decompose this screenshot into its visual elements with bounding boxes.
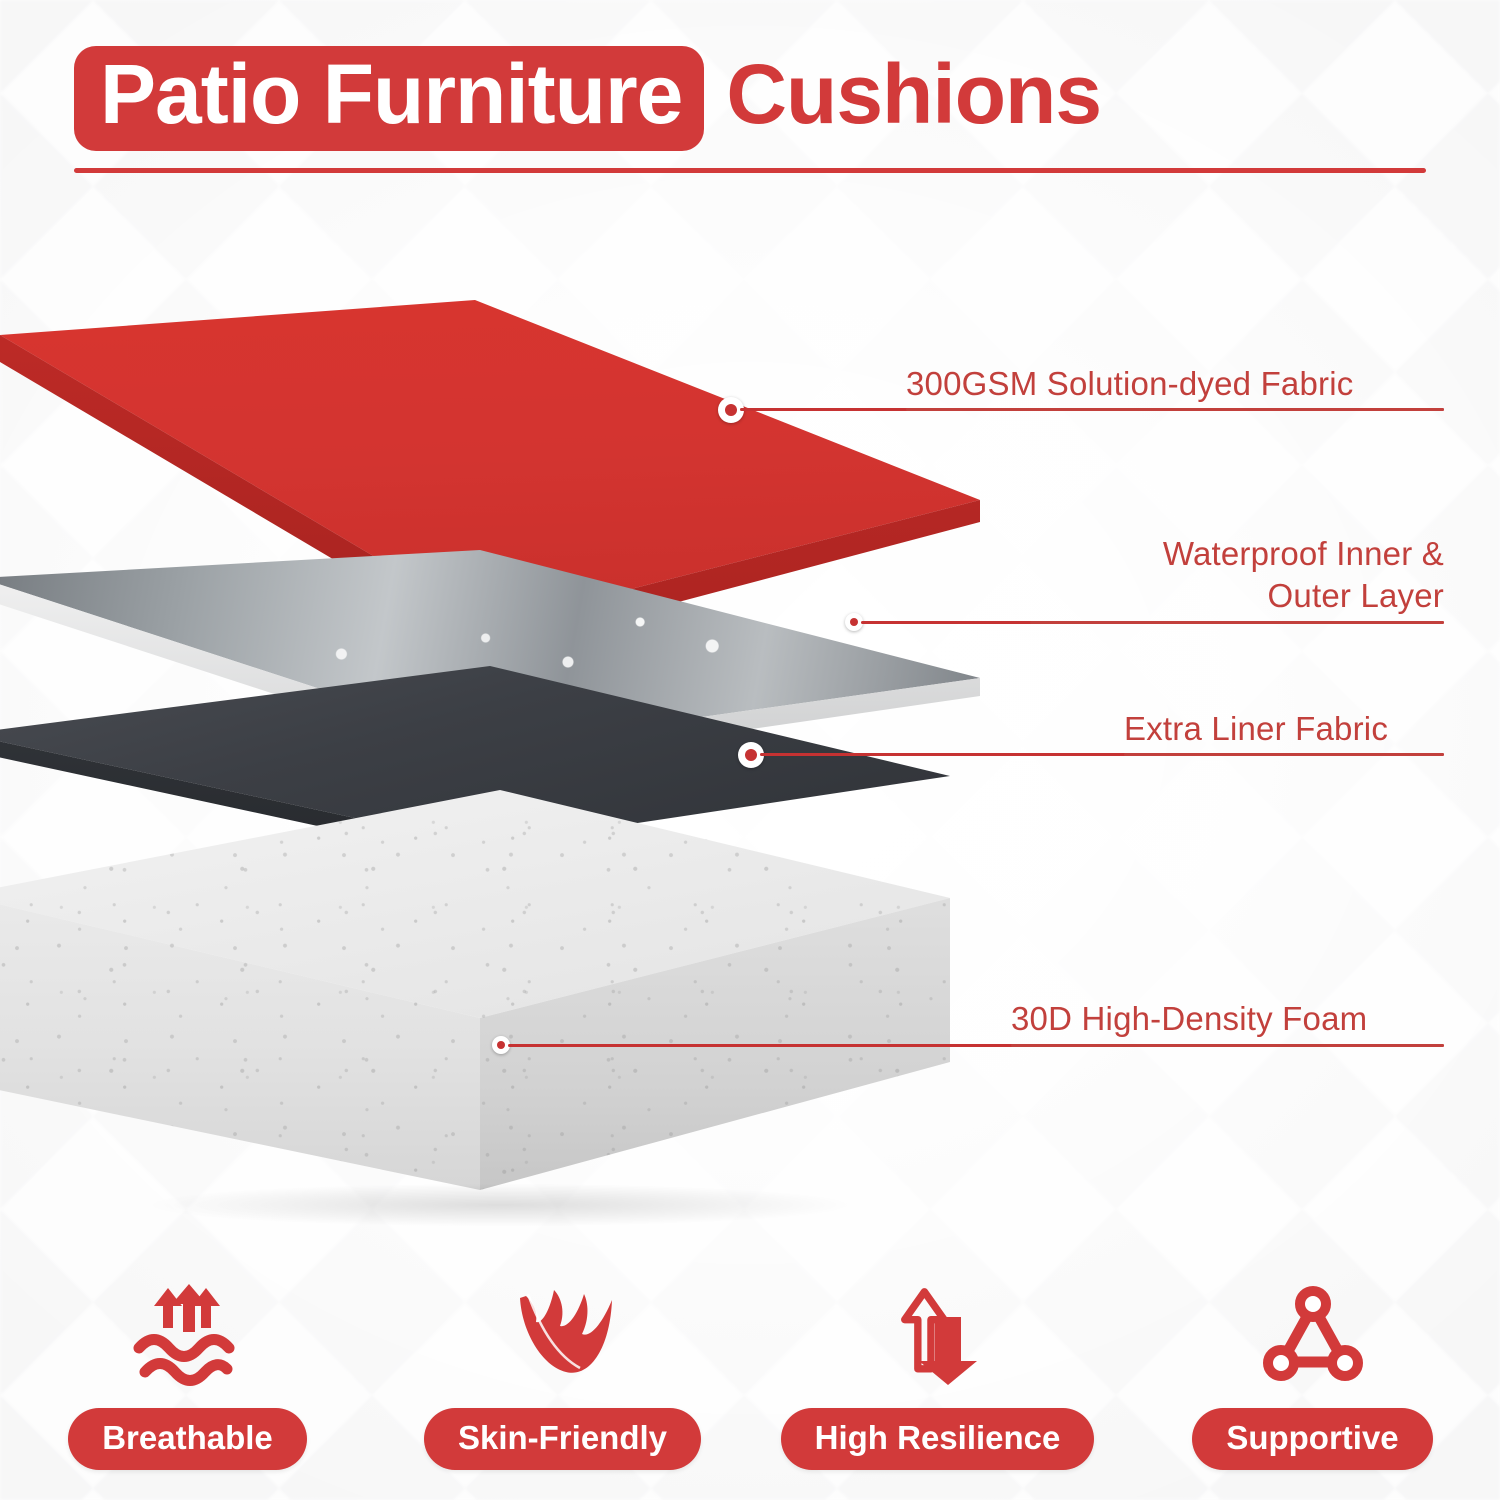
- triangle-nodes-icon: [1248, 1276, 1378, 1394]
- up-down-arrows-icon: [873, 1276, 1003, 1394]
- title-highlight-chip: Patio Furniture: [74, 46, 704, 151]
- header: Patio Furniture Cushions: [0, 46, 1500, 196]
- layer-high-density-foam: [0, 790, 990, 1210]
- title-underline-rule: [74, 168, 1426, 173]
- callout-label-foam: 30D High-Density Foam: [1011, 998, 1367, 1040]
- callout-label-fabric: 300GSM Solution-dyed Fabric: [906, 363, 1353, 405]
- feature-label-breathable: Breathable: [68, 1408, 307, 1470]
- exploded-layer-stack: [0, 300, 1030, 1200]
- infographic-page: Patio Furniture Cushions: [0, 0, 1500, 1500]
- feature-label-supportive: Supportive: [1192, 1408, 1432, 1470]
- foam-ground-shadow: [10, 1175, 990, 1235]
- feature-supportive[interactable]: Supportive: [1148, 1276, 1478, 1470]
- feature-label-high-resilience: High Resilience: [781, 1408, 1095, 1470]
- callout-label-waterproof: Waterproof Inner & Outer Layer: [1030, 533, 1444, 617]
- callout-label-rule-liner: [1124, 753, 1444, 756]
- callout-label-rule-fabric: [906, 408, 1444, 411]
- callout-label-rule-waterproof: [1030, 621, 1444, 624]
- title-plain-text: Cushions: [704, 52, 1101, 145]
- callout-label-liner: Extra Liner Fabric: [1124, 708, 1388, 750]
- arrows-over-waves-icon: [123, 1276, 253, 1394]
- foam-texture-speckle: [0, 790, 990, 1210]
- callout-label-waterproof-line1: Waterproof Inner &: [1163, 535, 1444, 572]
- feature-label-skin-friendly: Skin-Friendly: [424, 1408, 701, 1470]
- page-title: Patio Furniture Cushions: [74, 46, 1101, 151]
- feather-icon: [498, 1276, 628, 1394]
- feature-high-resilience[interactable]: High Resilience: [773, 1276, 1103, 1470]
- feature-skin-friendly[interactable]: Skin-Friendly: [398, 1276, 728, 1470]
- callout-label-waterproof-line2: Outer Layer: [1268, 577, 1444, 614]
- feature-breathable[interactable]: Breathable: [23, 1276, 353, 1470]
- feature-badge-row: Breathable Skin-Friendly High Resilience: [0, 1255, 1500, 1470]
- callout-label-rule-foam: [1011, 1044, 1444, 1047]
